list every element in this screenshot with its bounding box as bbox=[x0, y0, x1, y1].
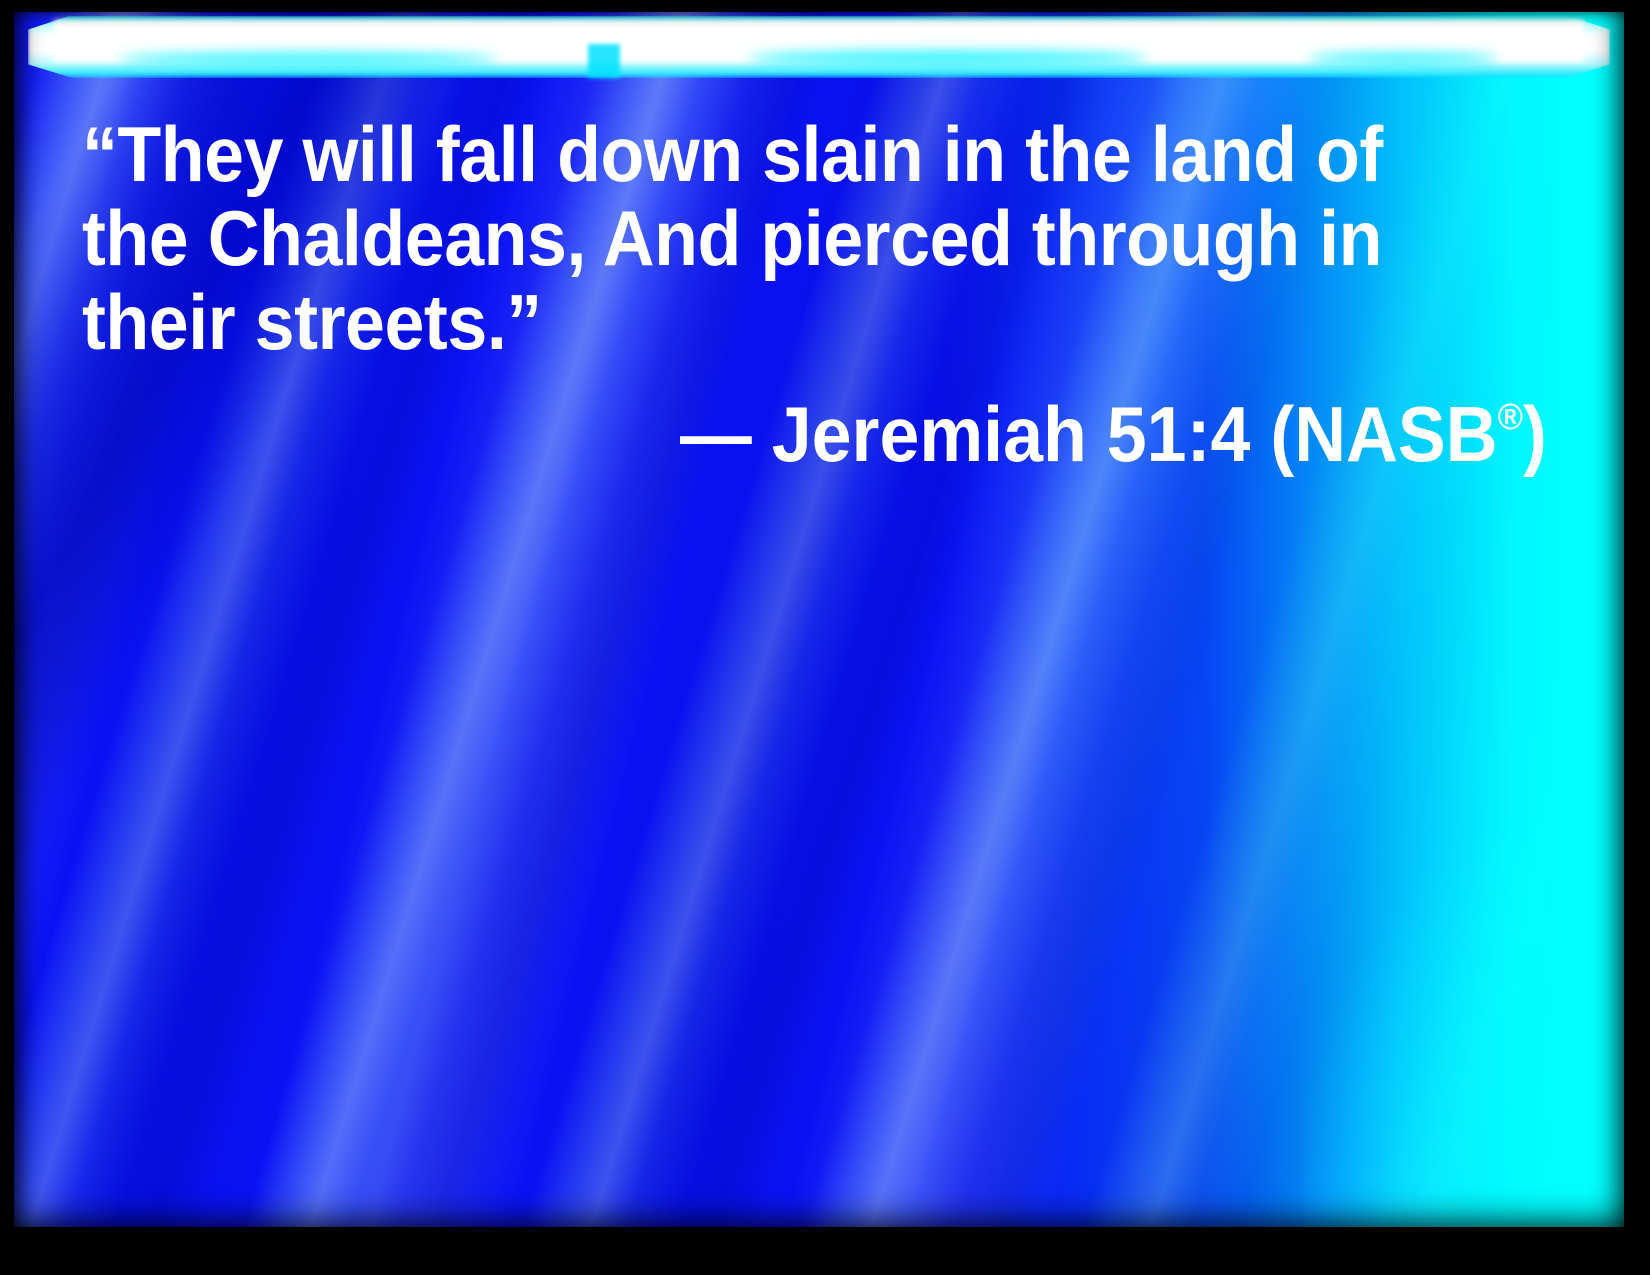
header-cyan-notch bbox=[588, 44, 620, 78]
verse-attribution: — Jeremiah 51:4 (NASB®) bbox=[680, 374, 1547, 476]
attribution-suffix: ) bbox=[1523, 390, 1547, 478]
verse-slide: “They will fall down slain in the land o… bbox=[0, 0, 1650, 1275]
verse-text: “They will fall down slain in the land o… bbox=[82, 112, 1396, 364]
attribution-prefix: — Jeremiah 51:4 (NASB bbox=[680, 390, 1498, 478]
verse-block: “They will fall down slain in the land o… bbox=[82, 112, 1510, 364]
registered-trademark-icon: ® bbox=[1498, 395, 1523, 437]
header-cyan-streak-center bbox=[748, 50, 1148, 66]
header-light-band bbox=[28, 16, 1610, 78]
header-cyan-streak-right bbox=[1308, 52, 1498, 65]
background-cyan-corner-glow bbox=[1304, 807, 1624, 1227]
header-cyan-streak-left bbox=[118, 52, 498, 66]
